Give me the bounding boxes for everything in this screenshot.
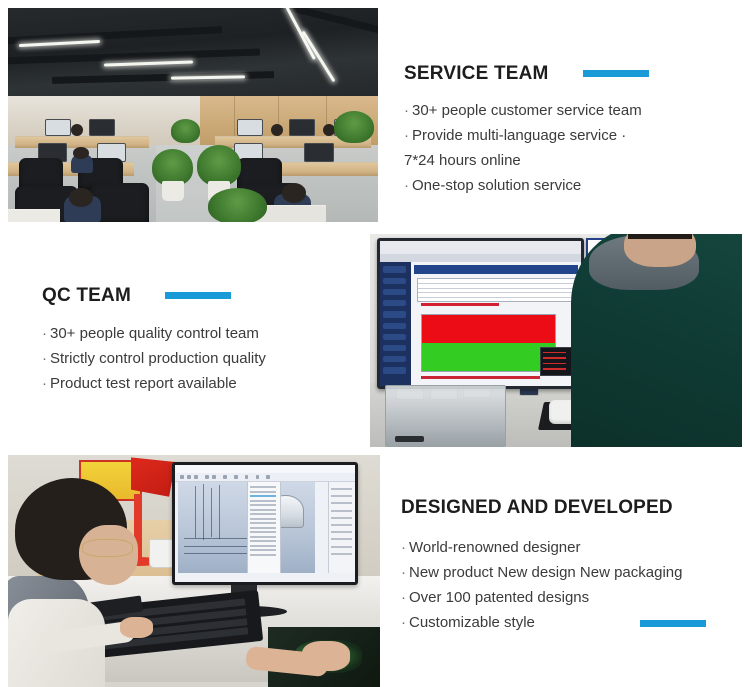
office-plant <box>334 111 375 143</box>
list-item: ·30+ people quality control team <box>42 321 266 346</box>
service-team-bullet-list: ·30+ people customer service team ·Provi… <box>404 98 649 198</box>
cad-designer-hand <box>120 617 153 638</box>
cad-desk-flag <box>131 457 176 496</box>
list-item: ·New product New design New packaging <box>401 560 682 585</box>
cad-designer-photo <box>8 455 380 687</box>
accent-bar-icon <box>583 70 649 77</box>
qc-alert-bar <box>421 303 500 307</box>
office-person-head <box>73 147 89 159</box>
qc-display-screen <box>380 241 581 386</box>
list-item: ·30+ people customer service team <box>404 98 649 123</box>
cad-screen <box>175 465 355 582</box>
office-desk <box>8 209 60 222</box>
qc-status-bar <box>421 376 541 378</box>
office-person-head <box>69 188 93 207</box>
qc-app-toolbar <box>380 254 581 261</box>
qc-chart-fail-band <box>422 315 555 343</box>
qc-team-bullet-list: ·30+ people quality control team ·Strict… <box>42 321 266 396</box>
cad-properties-panel <box>328 482 354 572</box>
qc-display-monitor <box>377 238 584 389</box>
qc-result-chart <box>421 314 556 372</box>
designed-and-developed-heading: DESIGNED AND DEVELOPED <box>401 498 673 517</box>
list-item-text: Provide multi-language service · <box>412 127 626 144</box>
qc-monitor-photo <box>370 234 742 447</box>
bullet-dot-icon: · <box>42 325 47 342</box>
qc-chart-pass-band <box>422 343 555 371</box>
list-item: ·One-stop solution service <box>404 173 649 198</box>
list-item: ·World-renowned designer <box>401 535 682 560</box>
list-item: 7*24 hours online <box>404 148 649 173</box>
list-item: ·Over 100 patented designs <box>401 585 682 610</box>
accent-bar-icon <box>165 292 231 299</box>
office-monitor <box>237 119 263 136</box>
qc-report-titlebar <box>414 265 578 274</box>
list-item-text: Over 100 patented designs <box>409 589 589 606</box>
designed-heading-row: DESIGNED AND DEVELOPED <box>401 498 682 517</box>
cad-app-toolbar <box>175 473 355 482</box>
designed-and-developed-text-block: DESIGNED AND DEVELOPED ·World-renowned d… <box>401 498 682 635</box>
bullet-dot-icon: · <box>42 350 47 367</box>
office-monitor <box>89 119 115 136</box>
service-team-text-block: SERVICE TEAM ·30+ people customer servic… <box>404 64 649 198</box>
bullet-dot-icon: · <box>404 127 409 144</box>
list-item-text: Product test report available <box>50 375 237 392</box>
list-item: ·Strictly control production quality <box>42 346 266 371</box>
bullet-dot-icon: · <box>401 564 406 581</box>
qc-test-fixture <box>385 385 506 447</box>
office-plant-pot <box>162 181 184 200</box>
service-team-heading-row: SERVICE TEAM <box>404 64 649 83</box>
qc-worker <box>571 234 742 447</box>
bullet-dot-icon: · <box>401 614 406 631</box>
cad-designer-hand <box>302 641 350 671</box>
office-plant <box>208 188 267 222</box>
office-plant <box>152 149 193 185</box>
list-item-text: 30+ people customer service team <box>412 102 642 119</box>
qc-data-table <box>417 278 576 302</box>
qc-team-text-block: QC TEAM ·30+ people quality control team… <box>42 286 266 396</box>
office-monitor <box>289 119 315 136</box>
qc-app-content <box>411 262 582 387</box>
bullet-dot-icon: · <box>401 539 406 556</box>
list-item-text: Customizable style <box>409 614 535 631</box>
list-item: ·Provide multi-language service · <box>404 123 649 148</box>
office-plant <box>171 119 201 143</box>
service-team-heading: SERVICE TEAM <box>404 64 549 83</box>
office-monitor <box>45 119 71 136</box>
qc-fixture-part <box>395 436 424 442</box>
qc-app-sidebar <box>380 262 410 387</box>
list-item-text: World-renowned designer <box>409 539 580 556</box>
bullet-dot-icon: · <box>404 102 409 119</box>
office-person-head <box>282 183 306 202</box>
list-item: ·Product test report available <box>42 371 266 396</box>
list-item-text: New product New design New packaging <box>409 564 682 581</box>
qc-app-titlebar <box>380 241 581 254</box>
qc-team-heading-row: QC TEAM <box>42 286 266 305</box>
cad-feature-tree <box>247 482 281 572</box>
accent-bar-icon <box>640 620 706 627</box>
qc-worker-hair <box>628 234 692 239</box>
office-monitor <box>304 143 334 162</box>
cad-monitor <box>172 462 358 585</box>
bullet-dot-icon: · <box>42 375 47 392</box>
list-item-text: 7*24 hours online <box>404 152 521 169</box>
list-item-text: Strictly control production quality <box>50 350 266 367</box>
bullet-dot-icon: · <box>404 177 409 194</box>
qc-team-heading: QC TEAM <box>42 286 131 305</box>
glasses-icon <box>82 539 132 557</box>
bullet-dot-icon: · <box>401 589 406 606</box>
list-item-text: 30+ people quality control team <box>50 325 259 342</box>
office-plant <box>197 145 241 186</box>
office-service-team-photo <box>8 8 378 222</box>
list-item-text: One-stop solution service <box>412 177 581 194</box>
